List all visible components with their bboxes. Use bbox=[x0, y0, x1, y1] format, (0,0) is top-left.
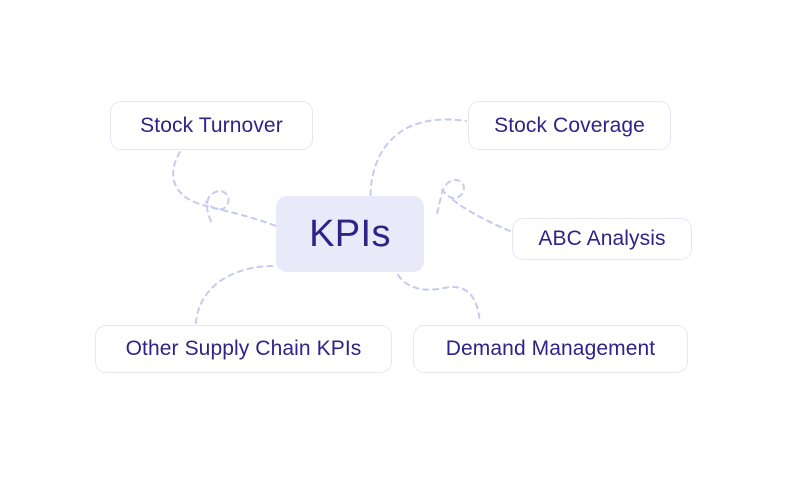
node-stock-turnover[interactable]: Stock Turnover bbox=[110, 101, 313, 150]
connector-demand-management bbox=[398, 275, 480, 323]
node-stock-turnover-label: Stock Turnover bbox=[140, 114, 283, 138]
connector-curl-left bbox=[206, 191, 229, 221]
mind-map-canvas: KPIs Stock Turnover Stock Coverage ABC A… bbox=[0, 0, 787, 492]
node-abc-analysis[interactable]: ABC Analysis bbox=[512, 218, 692, 260]
node-abc-analysis-label: ABC Analysis bbox=[538, 227, 665, 251]
node-stock-coverage[interactable]: Stock Coverage bbox=[468, 101, 671, 150]
node-stock-coverage-label: Stock Coverage bbox=[494, 114, 645, 138]
connector-stock-coverage bbox=[371, 119, 466, 205]
connector-abc-analysis bbox=[453, 200, 512, 232]
node-kpis-center[interactable]: KPIs bbox=[276, 196, 424, 272]
node-demand-management-label: Demand Management bbox=[446, 337, 656, 361]
connector-other-supply-chain-kpis bbox=[196, 266, 276, 323]
node-other-supply-chain-kpis-label: Other Supply Chain KPIs bbox=[126, 337, 362, 361]
connector-stock-turnover bbox=[173, 152, 276, 226]
connector-curl-right bbox=[437, 180, 464, 213]
node-other-supply-chain-kpis[interactable]: Other Supply Chain KPIs bbox=[95, 325, 392, 373]
node-kpis-center-label: KPIs bbox=[309, 213, 391, 256]
node-demand-management[interactable]: Demand Management bbox=[413, 325, 688, 373]
